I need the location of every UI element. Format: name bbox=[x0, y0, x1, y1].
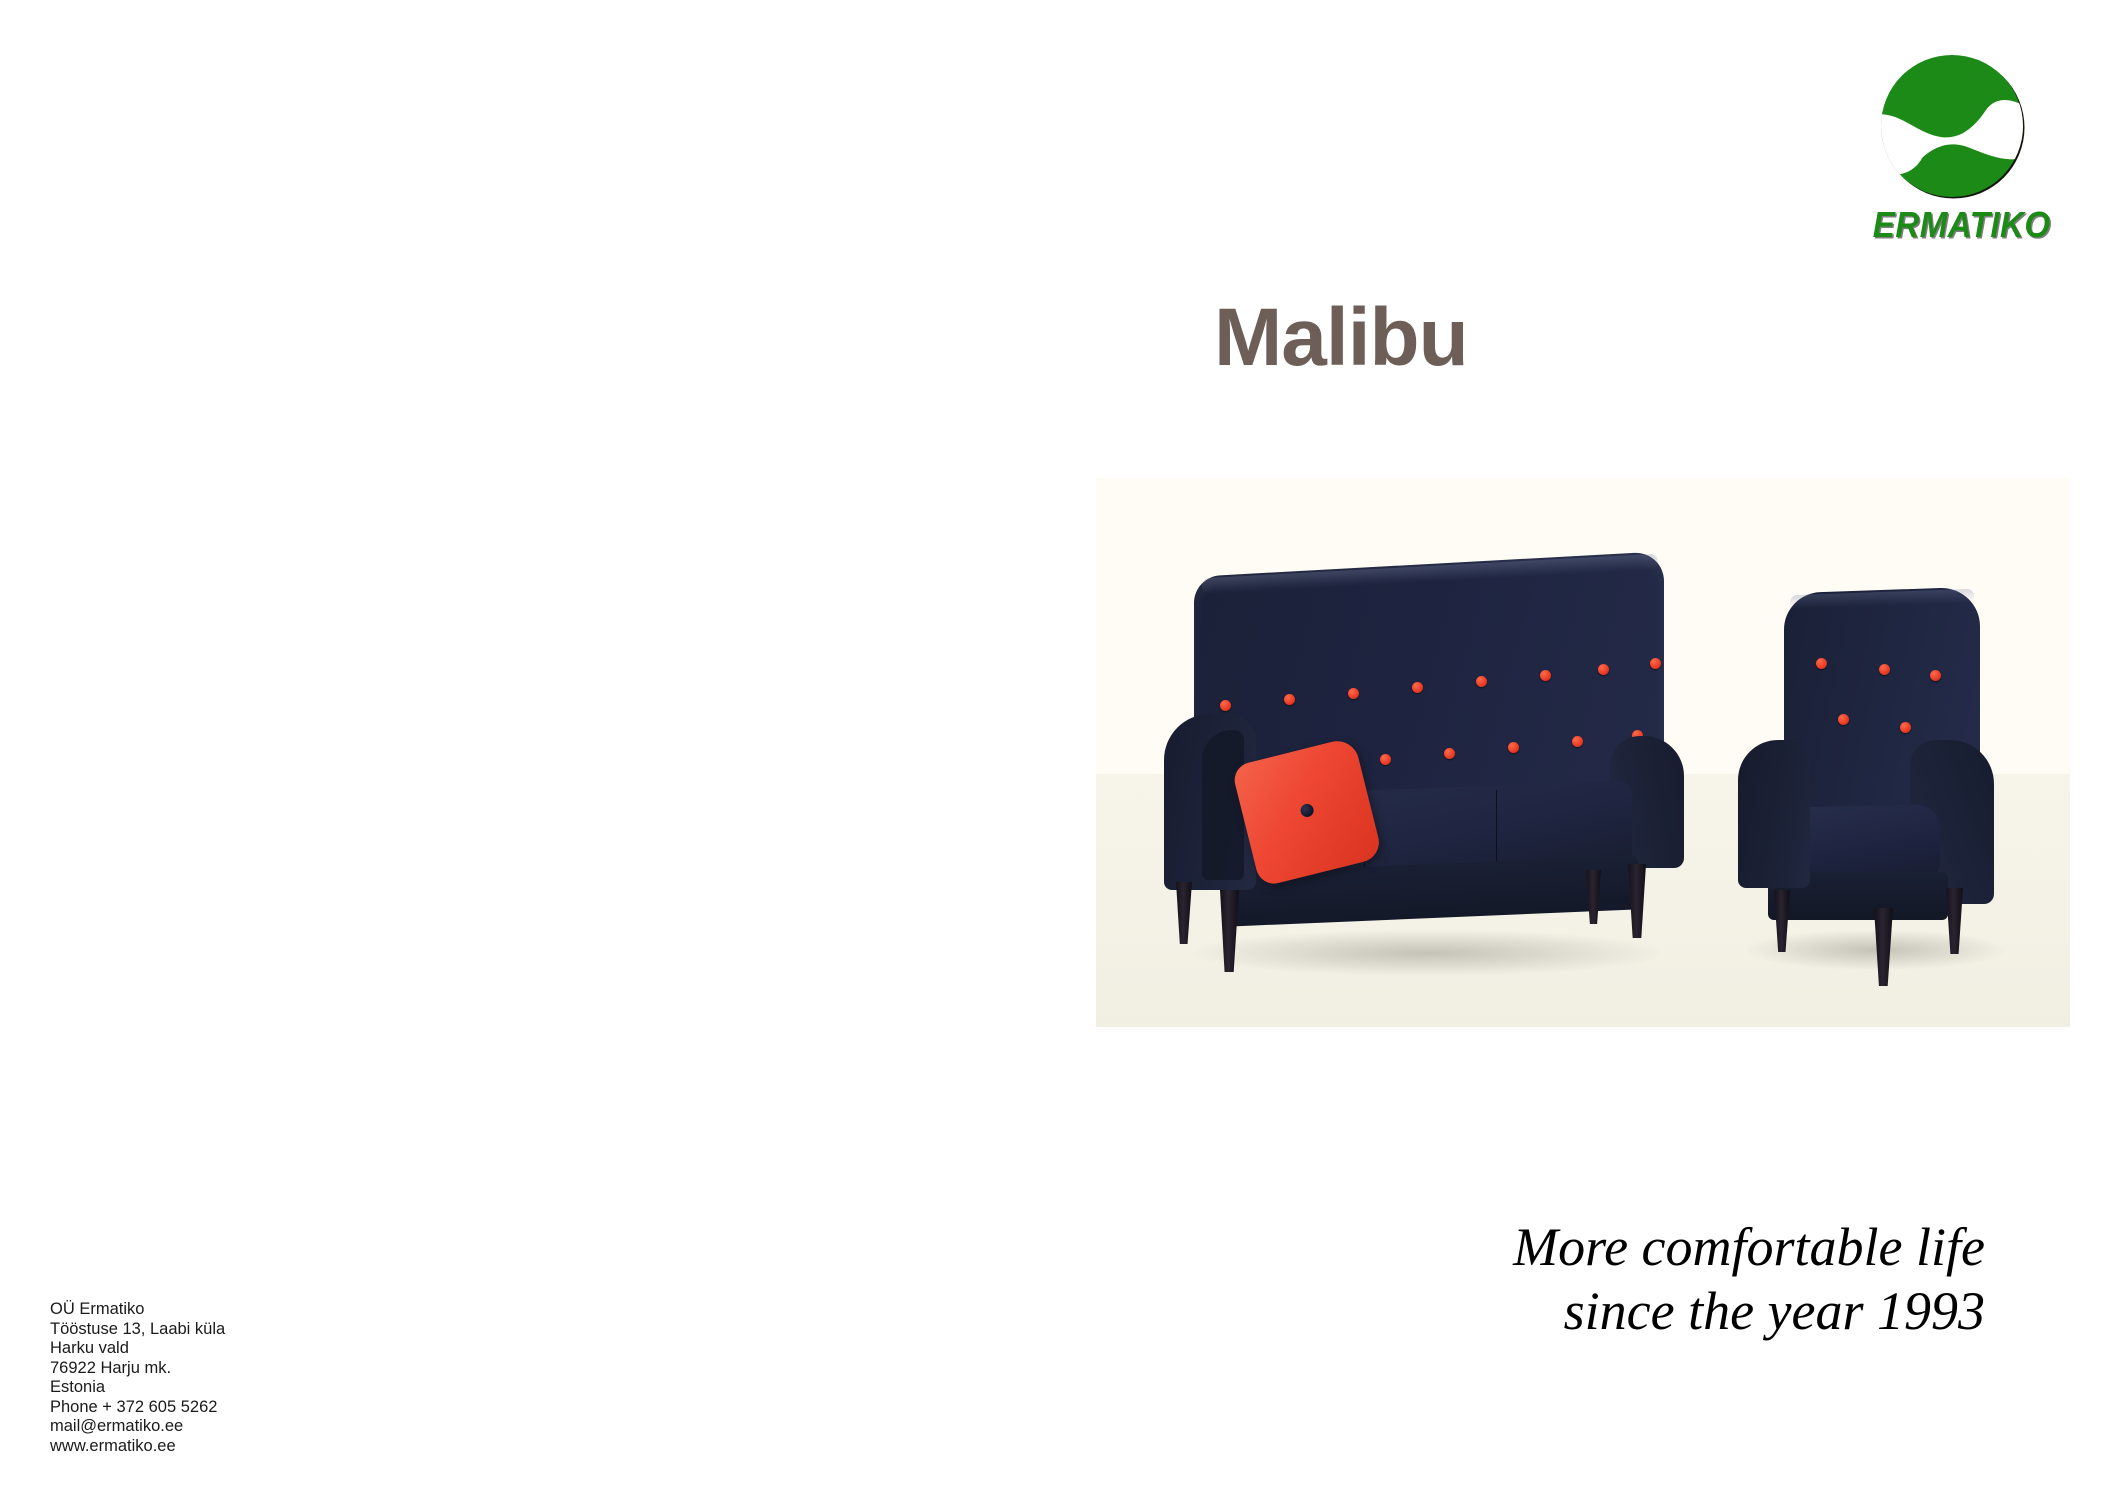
pillow-button bbox=[1299, 802, 1315, 818]
chair-leg bbox=[1946, 888, 1963, 954]
sofa-button bbox=[1476, 676, 1487, 687]
chair-button bbox=[1900, 722, 1911, 733]
address-line: OÜ Ermatiko bbox=[50, 1300, 225, 1320]
brand-wordmark: ERMATIKO bbox=[1873, 204, 2029, 246]
chair-button bbox=[1879, 664, 1890, 675]
chair-button bbox=[1838, 714, 1849, 725]
chair-leg bbox=[1774, 890, 1790, 952]
brand-logo[interactable]: ERMATIKO bbox=[1866, 52, 2036, 252]
sofa-leg bbox=[1220, 890, 1239, 972]
malibu-armchair bbox=[1724, 590, 2024, 990]
product-photo bbox=[1096, 478, 2070, 1027]
page-title: Malibu bbox=[1214, 297, 1468, 379]
ermatiko-swirl-circle-logo bbox=[1878, 52, 2026, 200]
address-phone: Phone + 372 605 5262 bbox=[50, 1398, 225, 1418]
sofa-button bbox=[1348, 688, 1359, 699]
address-line: 76922 Harju mk. bbox=[50, 1359, 225, 1379]
chair-button bbox=[1816, 658, 1827, 669]
address-website[interactable]: www.ermatiko.ee bbox=[50, 1437, 225, 1457]
address-email[interactable]: mail@ermatiko.ee bbox=[50, 1417, 225, 1437]
sofa-button bbox=[1444, 748, 1455, 759]
sofa-button bbox=[1284, 694, 1295, 705]
chair-button bbox=[1930, 670, 1941, 681]
address-line: Tööstuse 13, Laabi küla bbox=[50, 1320, 225, 1340]
address-line: Estonia bbox=[50, 1378, 225, 1398]
sofa-button bbox=[1412, 682, 1423, 693]
sofa-button bbox=[1508, 742, 1519, 753]
sofa-button bbox=[1572, 736, 1583, 747]
sofa-arm-left-inner bbox=[1202, 730, 1244, 880]
address-line: Harku vald bbox=[50, 1339, 225, 1359]
chair-arm-left bbox=[1738, 740, 1810, 888]
malibu-sofa bbox=[1158, 564, 1698, 984]
tagline-line-1: More comfortable life bbox=[1285, 1216, 1985, 1280]
sofa-button bbox=[1220, 700, 1231, 711]
sofa-button bbox=[1650, 658, 1661, 669]
tagline: More comfortable life since the year 199… bbox=[1285, 1216, 1985, 1343]
sofa-button bbox=[1598, 664, 1609, 675]
sofa-leg bbox=[1586, 870, 1601, 924]
sofa-leg bbox=[1176, 882, 1192, 944]
sofa-button bbox=[1380, 754, 1391, 765]
sofa-button bbox=[1540, 670, 1551, 681]
company-address-block: OÜ Ermatiko Tööstuse 13, Laabi küla Hark… bbox=[50, 1300, 225, 1456]
chair-leg bbox=[1874, 908, 1893, 986]
tagline-line-2: since the year 1993 bbox=[1285, 1280, 1985, 1344]
sofa-leg bbox=[1628, 864, 1646, 938]
